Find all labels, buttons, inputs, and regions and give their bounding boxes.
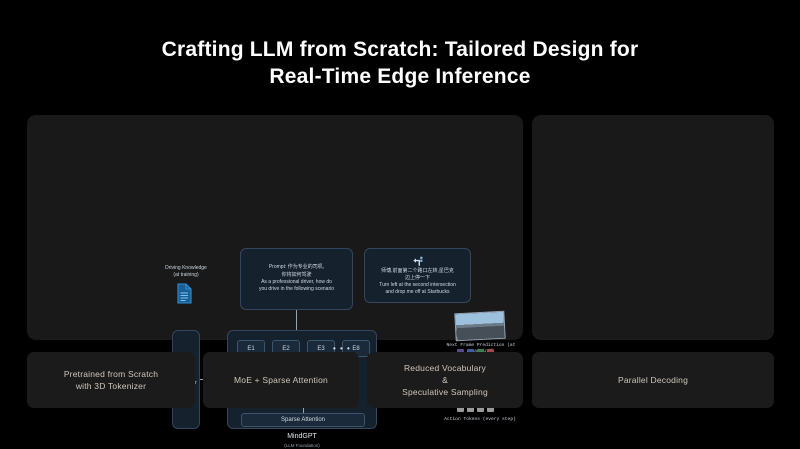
architecture-diagram-panel: Driving Knowledge (at training) Prompt: … — [27, 115, 523, 340]
mindgpt-caption: MindGPT (LLM Foundation) — [227, 432, 377, 449]
attention-mask-panel: 左转<BOA>Action Token1Action Token2Action … — [532, 115, 774, 340]
sparse-attention-box: Sparse Attention — [241, 413, 365, 427]
driving-knowledge-label: Driving Knowledge (at training) — [155, 265, 217, 278]
mindgpt-caption-title: MindGPT — [227, 432, 377, 441]
instruction-line-3: Turn left at the second intersection — [379, 282, 456, 289]
card-2-line-3: Speculative Sampling — [402, 386, 488, 398]
instruction-line-2: 边上停一下 — [405, 275, 430, 282]
next-frame-thumbnail — [454, 311, 505, 342]
prompt-line-4: you drive in the following scenario — [259, 286, 334, 293]
card-1-line-1: MoE + Sparse Attention — [234, 374, 328, 386]
prompt-line-1: Prompt: 作为专业的司机, — [269, 264, 324, 271]
driving-knowledge-line-1: Driving Knowledge — [155, 265, 217, 272]
feature-card-parallel-decoding[interactable]: Parallel Decoding — [532, 352, 774, 408]
turn-left-icon — [412, 255, 424, 267]
slide-root: Crafting LLM from Scratch: Tailored Desi… — [0, 0, 800, 449]
card-2-line-2: & — [402, 374, 488, 386]
card-0-line-1: Pretrained from Scratch — [64, 368, 158, 380]
title-line-1: Crafting LLM from Scratch: Tailored Desi… — [0, 36, 800, 63]
prompt-line-2: 你将如何驾驶 — [281, 272, 311, 279]
instruction-line-4: and drop me off at Starbucks — [385, 289, 449, 296]
wire-prompt-to-core — [296, 310, 297, 330]
feature-card-vocabulary[interactable]: Reduced Vocabulary & Speculative Samplin… — [367, 352, 523, 408]
title-line-2: Real-Time Edge Inference — [0, 63, 800, 90]
mindgpt-caption-subtitle: (LLM Foundation) — [227, 441, 377, 449]
document-icon — [176, 283, 193, 304]
card-2-line-1: Reduced Vocabulary — [402, 362, 488, 374]
card-0-line-2: with 3D Tokenizer — [64, 380, 158, 392]
prompt-box: Prompt: 作为专业的司机, 你将如何驾驶 As a professiona… — [240, 248, 353, 310]
feature-card-pretrained[interactable]: Pretrained from Scratch with 3D Tokenize… — [27, 352, 195, 408]
page-title: Crafting LLM from Scratch: Tailored Desi… — [0, 36, 800, 90]
action-tokens-label: Action Tokens (every step) — [425, 417, 535, 422]
feature-card-moe[interactable]: MoE + Sparse Attention — [203, 352, 359, 408]
driving-knowledge-line-2: (at training) — [155, 272, 217, 279]
prompt-line-3: As a professional driver, how do — [261, 279, 332, 286]
instruction-line-1: 师傅,前面第二个路口左转,星巴克 — [381, 268, 454, 275]
user-instruction-box: 师傅,前面第二个路口左转,星巴克 边上停一下 Turn left at the … — [364, 248, 471, 303]
card-3-line-1: Parallel Decoding — [618, 374, 688, 386]
